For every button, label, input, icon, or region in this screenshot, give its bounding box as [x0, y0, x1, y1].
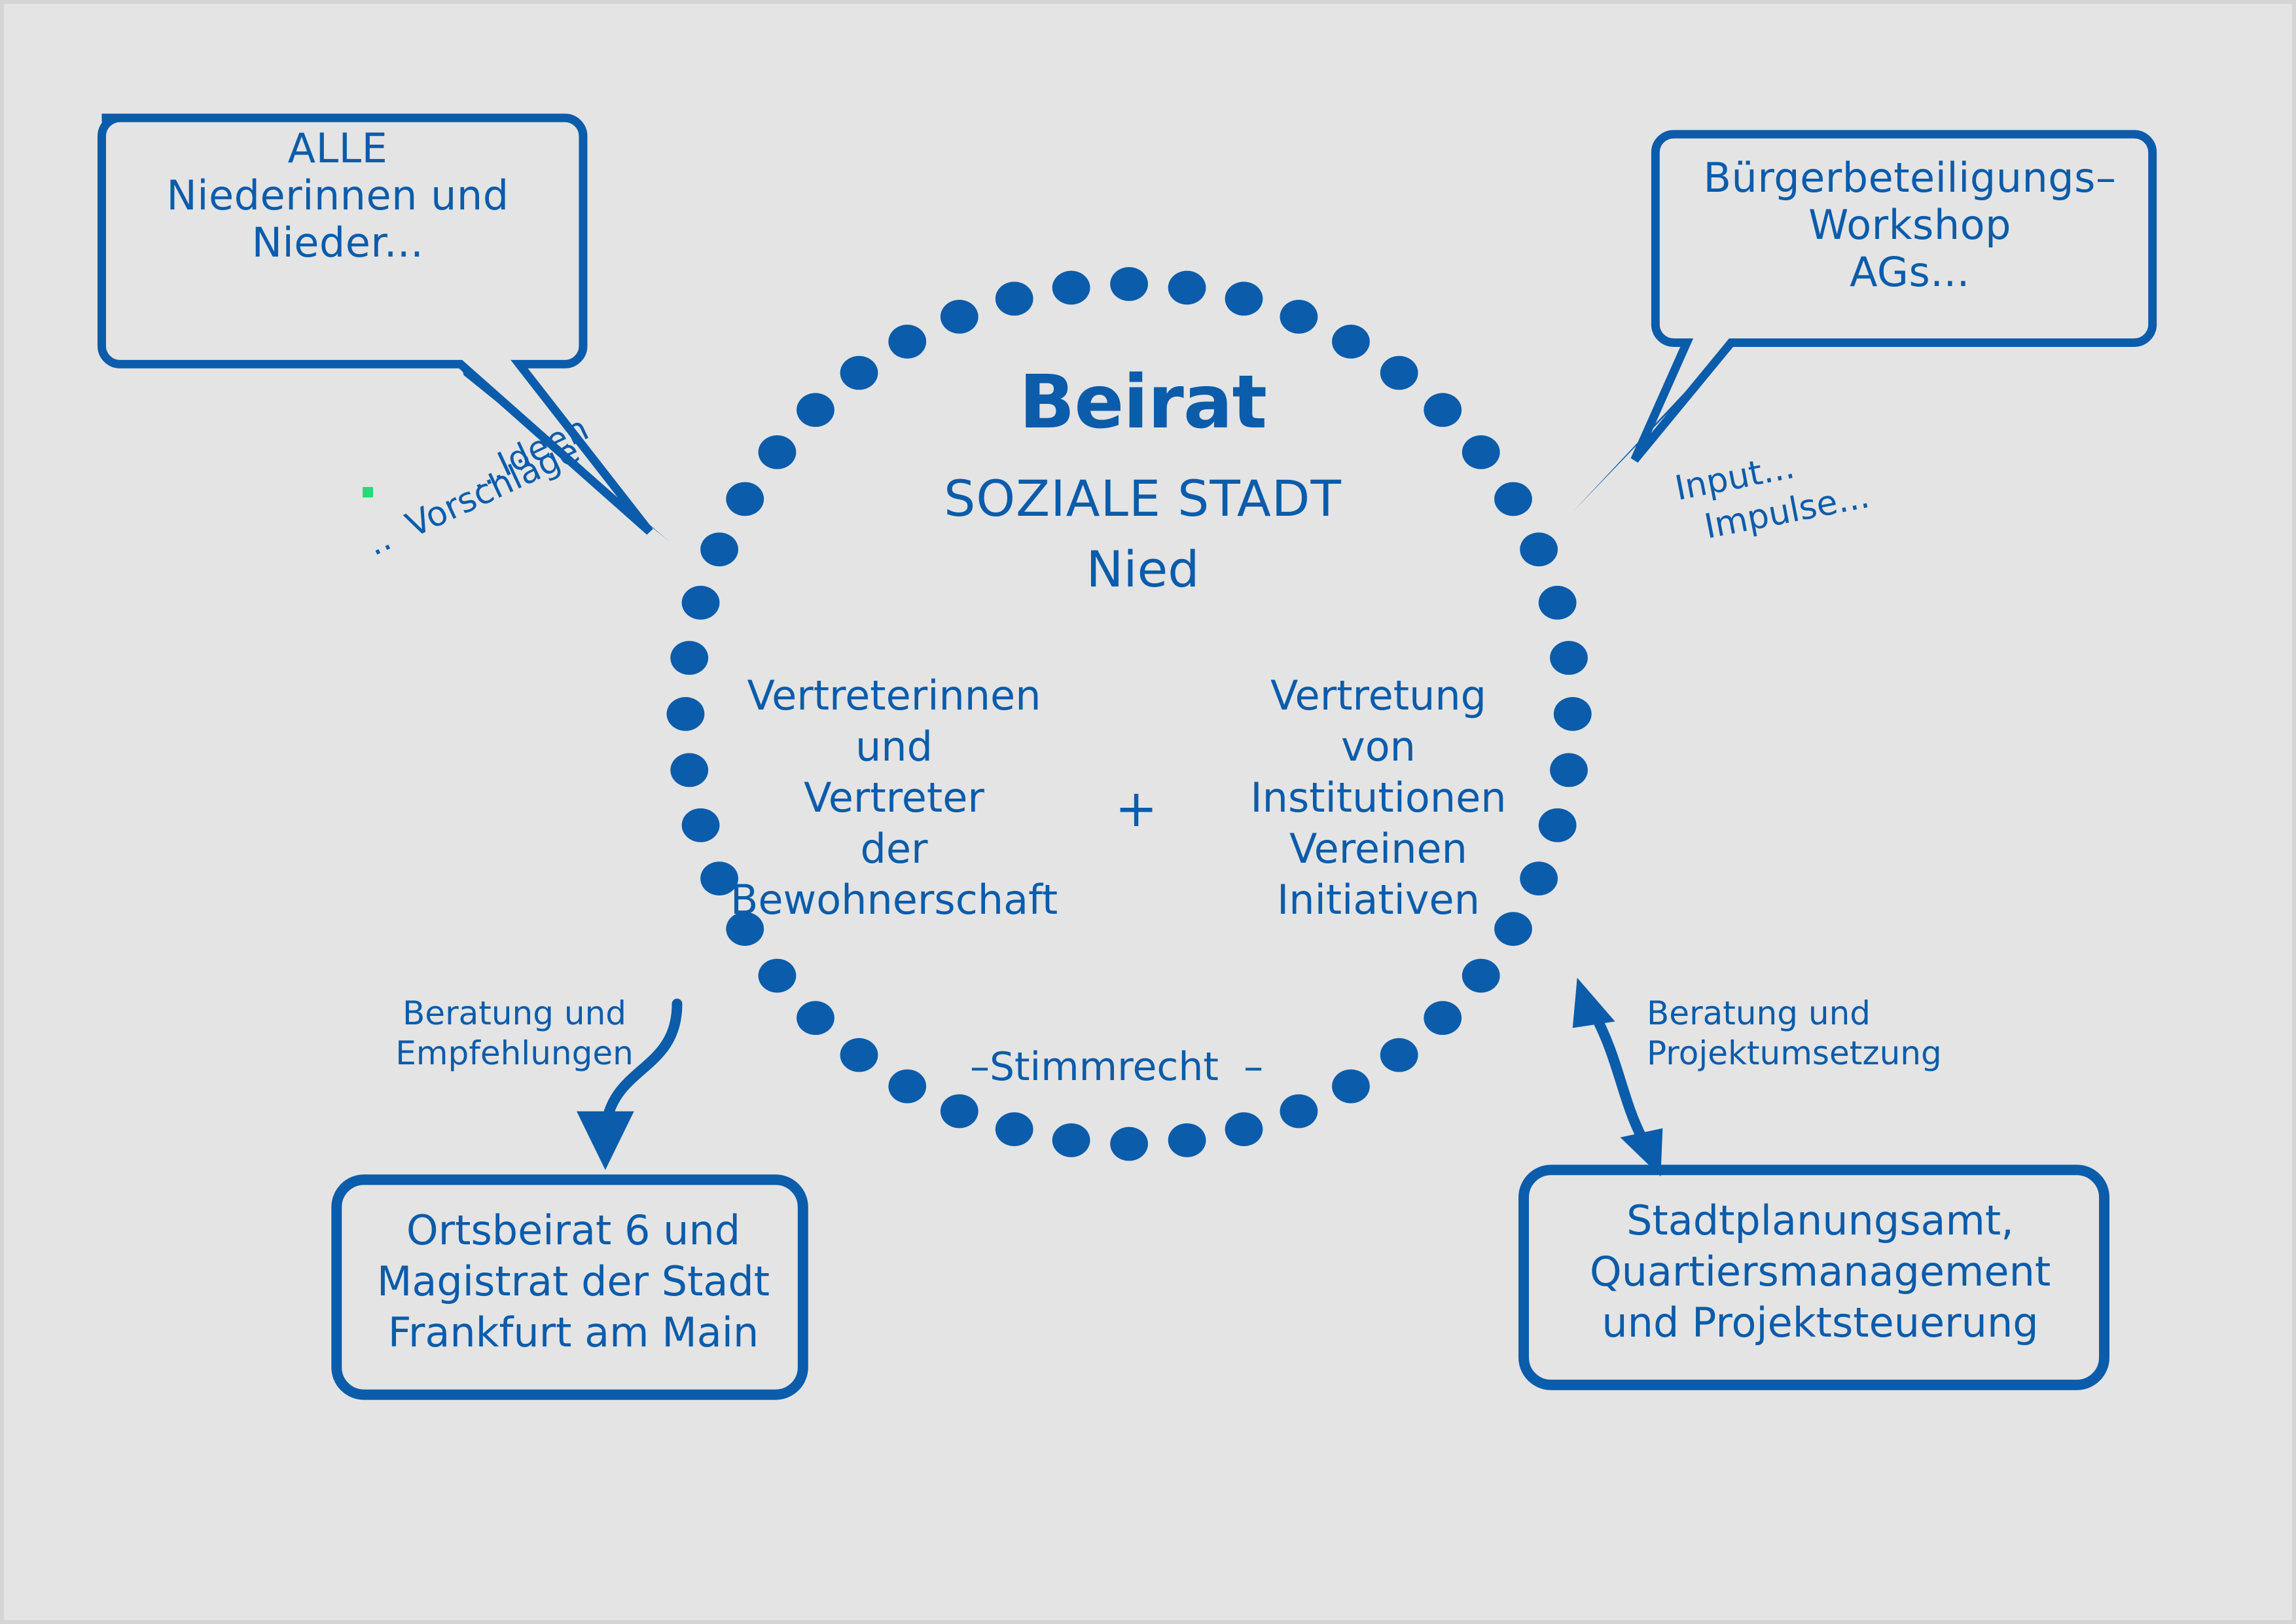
ring-dot — [1539, 586, 1577, 620]
ring-dot — [1554, 697, 1592, 731]
page-title: Beirat — [848, 361, 1437, 446]
ring-dot — [1462, 435, 1500, 469]
ring-dot — [888, 1070, 926, 1104]
ring-dot — [941, 1094, 978, 1128]
ring-dot — [1550, 641, 1588, 675]
subtitle-line-2: Nied — [848, 541, 1437, 598]
ring-dot — [1380, 1038, 1418, 1072]
ring-dot — [1168, 1123, 1206, 1157]
green-dot-marker — [363, 487, 373, 497]
ring-dot — [682, 586, 720, 620]
ring-dot — [1424, 1001, 1462, 1035]
ring-dot — [670, 753, 708, 787]
ring-dot — [888, 325, 926, 359]
ring-dot — [1225, 281, 1263, 316]
ring-dot — [1550, 753, 1588, 787]
ring-dot — [667, 697, 705, 731]
plus-sign: + — [1090, 780, 1182, 839]
ring-dot — [1168, 271, 1206, 305]
ring-dot — [797, 1001, 834, 1035]
box-bottom-right-text: Stadtplanungsamt, Quartiersmanagement un… — [1539, 1195, 2102, 1348]
ring-dot — [670, 641, 708, 675]
ring-dot — [996, 1112, 1033, 1146]
ring-dot — [759, 435, 797, 469]
ring-dot — [726, 482, 764, 516]
ring-dot — [1280, 300, 1318, 334]
annotation-beratung-projektumsetzung: Beratung und Projektumsetzung — [1647, 994, 1954, 1074]
ring-dot — [941, 300, 978, 334]
ring-dot — [1280, 1094, 1318, 1128]
ring-dot — [700, 532, 738, 566]
ring-dot — [1052, 271, 1090, 305]
ring-dot — [1494, 482, 1532, 516]
diagram-canvas: ALLE Niederinnen und Nieder... Bürgerbet… — [0, 0, 2296, 1624]
ring-dot — [1110, 267, 1148, 301]
bubble-top-left-text: ALLE Niederinnen und Nieder... — [102, 125, 573, 266]
box-bottom-left-text: Ortsbeirat 6 und Magistrat der Stadt Fra… — [344, 1205, 802, 1358]
bubble-top-right-text: Bürgerbeteiligungs– Workshop AGs... — [1674, 154, 2145, 296]
ring-dot — [1520, 532, 1558, 566]
ring-dot — [797, 393, 834, 427]
subtitle-line-1: SOZIALE STADT — [816, 470, 1470, 528]
center-column-left: Vertreterinnen und Vertreter der Bewohne… — [704, 670, 1084, 926]
stimmrecht-label: –Stimmrecht – — [946, 1045, 1287, 1091]
center-column-right: Vertretung von Institutionen Vereinen In… — [1208, 670, 1549, 926]
ring-dot — [1332, 325, 1370, 359]
ring-dot — [996, 281, 1033, 316]
ring-dot — [759, 959, 797, 993]
ring-dot — [1332, 1070, 1370, 1104]
annotation-beratung-empfehlungen: Beratung und Empfehlungen — [384, 994, 645, 1074]
ring-dot — [1052, 1123, 1090, 1157]
ring-dot — [840, 1038, 878, 1072]
ring-dot — [1225, 1112, 1263, 1146]
ring-dot — [1110, 1127, 1148, 1161]
ring-dot — [1462, 959, 1500, 993]
